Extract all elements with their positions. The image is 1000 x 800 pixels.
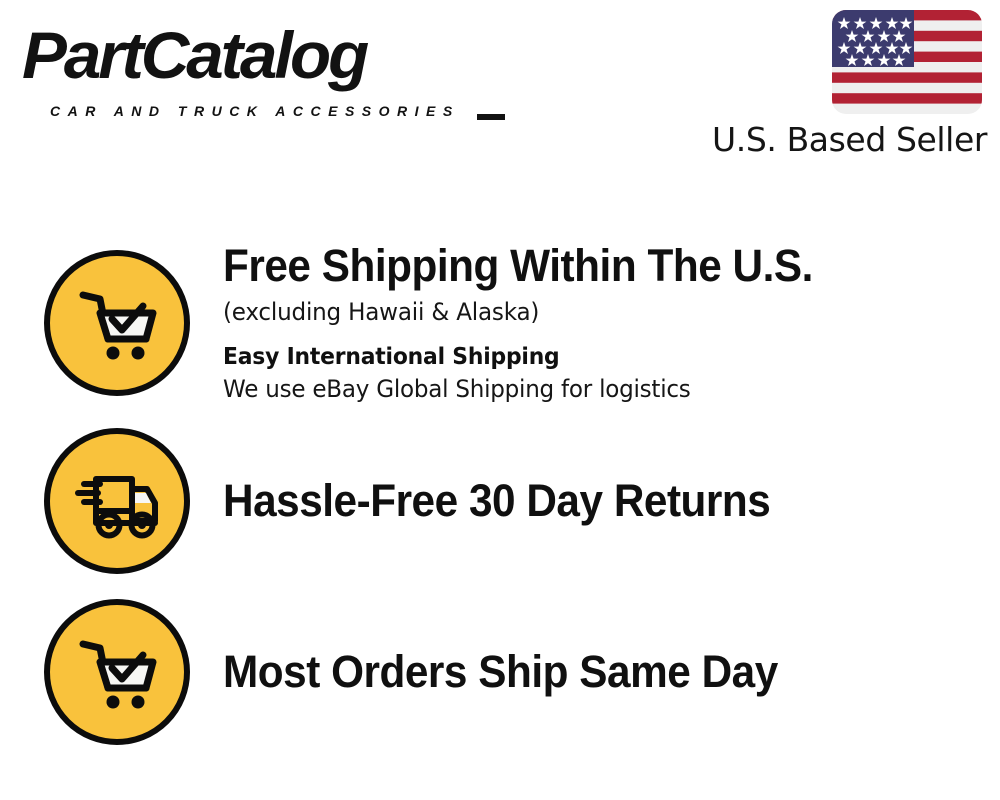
feature-headline: Hassle-Free 30 Day Returns: [223, 475, 935, 527]
feature-headline: Free Shipping Within The U.S.: [223, 240, 935, 292]
us-flag-icon: [832, 10, 982, 114]
brand-wordmark: PartCatalog: [22, 18, 366, 92]
feature-subnote: We use eBay Global Shipping for logistic…: [223, 373, 950, 406]
feature-subhead: Easy International Shipping: [223, 341, 942, 373]
feature-row-returns: Hassle-Free 30 Day Returns: [0, 416, 1000, 586]
feature-subline: (excluding Hawaii & Alaska): [223, 295, 950, 329]
feature-text-same-day-ship: Most Orders Ship Same Day: [223, 646, 1000, 698]
feature-headline: Most Orders Ship Same Day: [223, 646, 935, 698]
shopping-cart-check-icon: [44, 599, 190, 745]
feature-row-same-day-ship: Most Orders Ship Same Day: [0, 586, 1000, 758]
brand-logo: PartCatalog CAR AND TRUCK ACCESSORIES: [22, 18, 492, 118]
us-based-seller-label: U.S. Based Seller: [712, 120, 982, 160]
promo-banner: PartCatalog CAR AND TRUCK ACCESSORIES: [0, 0, 1000, 800]
delivery-truck-icon: [44, 428, 190, 574]
feature-row-free-shipping: Free Shipping Within The U.S. (excluding…: [0, 230, 1000, 416]
us-based-seller-badge: U.S. Based Seller: [712, 10, 982, 160]
logo-descender-rule: [477, 114, 505, 120]
feature-text-returns: Hassle-Free 30 Day Returns: [223, 475, 1000, 527]
feature-list: Free Shipping Within The U.S. (excluding…: [0, 230, 1000, 758]
feature-text-free-shipping: Free Shipping Within The U.S. (excluding…: [223, 240, 1000, 406]
brand-tagline: CAR AND TRUCK ACCESSORIES: [50, 103, 460, 119]
shopping-cart-check-icon: [44, 250, 190, 396]
